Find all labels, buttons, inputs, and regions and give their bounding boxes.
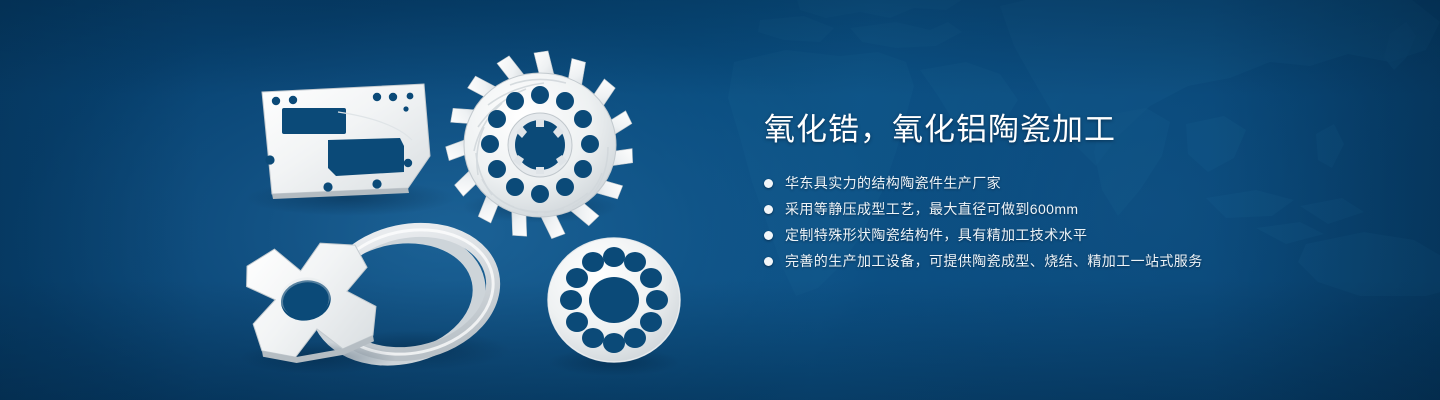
list-item: 采用等静压成型工艺，最大直径可做到600mm xyxy=(764,198,1404,221)
list-item-label: 定制特殊形状陶瓷结构件，具有精加工技术水平 xyxy=(785,224,1087,247)
list-item-label: 华东具实力的结构陶瓷件生产厂家 xyxy=(785,172,1001,195)
bullet-dot-icon xyxy=(764,231,773,240)
feature-list: 华东具实力的结构陶瓷件生产厂家 采用等静压成型工艺，最大直径可做到600mm 定… xyxy=(764,172,1404,273)
list-item: 完善的生产加工设备，可提供陶瓷成型、烧结、精加工一站式服务 xyxy=(764,250,1404,273)
bullet-dot-icon xyxy=(764,205,773,214)
bullet-dot-icon xyxy=(764,257,773,266)
banner-copy: 氧化锆，氧化铝陶瓷加工 华东具实力的结构陶瓷件生产厂家 采用等静压成型工艺，最大… xyxy=(764,110,1404,276)
hero-banner: 氧化锆，氧化铝陶瓷加工 华东具实力的结构陶瓷件生产厂家 采用等静压成型工艺，最大… xyxy=(0,0,1440,400)
list-item: 华东具实力的结构陶瓷件生产厂家 xyxy=(764,172,1404,195)
list-item-label: 完善的生产加工设备，可提供陶瓷成型、烧结、精加工一站式服务 xyxy=(785,250,1203,273)
list-item-label: 采用等静压成型工艺，最大直径可做到600mm xyxy=(785,198,1078,221)
bullet-dot-icon xyxy=(764,179,773,188)
list-item: 定制特殊形状陶瓷结构件，具有精加工技术水平 xyxy=(764,224,1404,247)
page-title: 氧化锆，氧化铝陶瓷加工 xyxy=(764,110,1404,150)
